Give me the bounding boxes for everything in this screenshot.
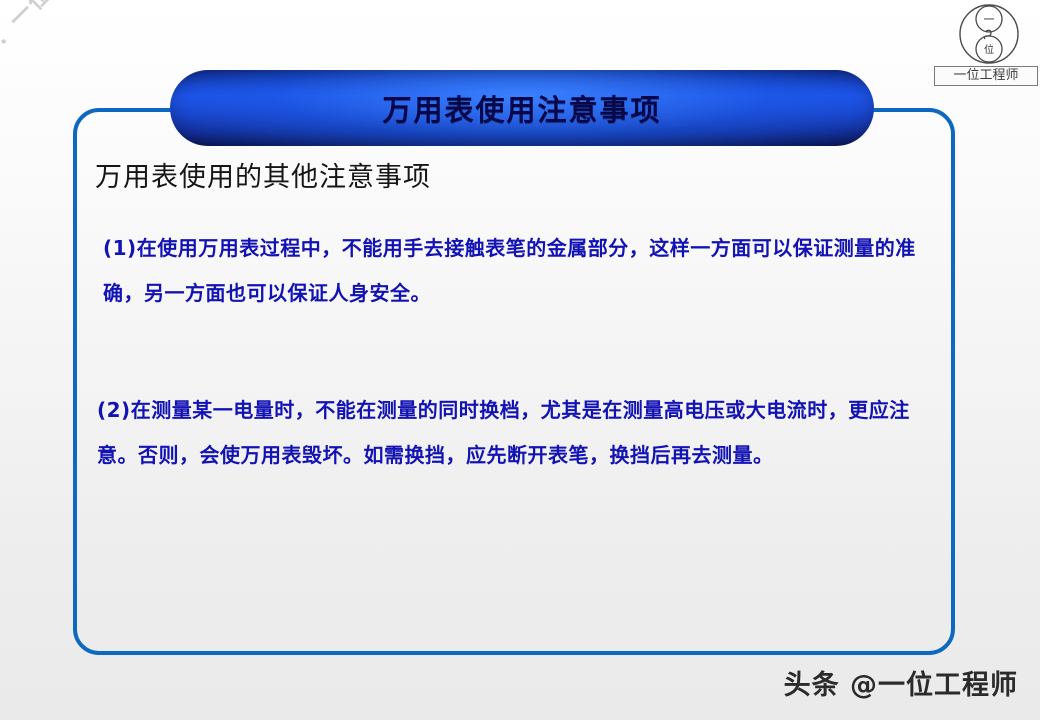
logo-glyph-bottom: 位 (984, 43, 994, 56)
note-paragraph-1: (1)在使用万用表过程中，不能用手去接触表笔的金属部分，这样一方面可以保证测量的… (95, 226, 935, 316)
slide-canvas: 头条号：一位工程师 一 位 一位工程师 万用表使用注意事项 万用表使用的其他注意… (0, 0, 1040, 720)
title-banner: 万用表使用注意事项 (170, 70, 874, 146)
content-body: 万用表使用的其他注意事项 (1)在使用万用表过程中，不能用手去接触表笔的金属部分… (95, 155, 935, 478)
logo-glyph-top: 一 (984, 13, 995, 26)
page-title: 万用表使用注意事项 (382, 87, 661, 129)
logo-label: 一位工程师 (934, 66, 1038, 86)
yinyang-circle-icon: 一 位 (958, 3, 1020, 65)
bottom-watermark: 头条 @一位工程师 (784, 663, 1018, 702)
brand-logo: 一 位 一位工程师 (934, 2, 1038, 86)
note-paragraph-2: (2)在测量某一电量时，不能在测量的同时换档，尤其是在测量高电压或大电流时，更应… (95, 388, 935, 478)
section-subheading: 万用表使用的其他注意事项 (95, 155, 935, 194)
